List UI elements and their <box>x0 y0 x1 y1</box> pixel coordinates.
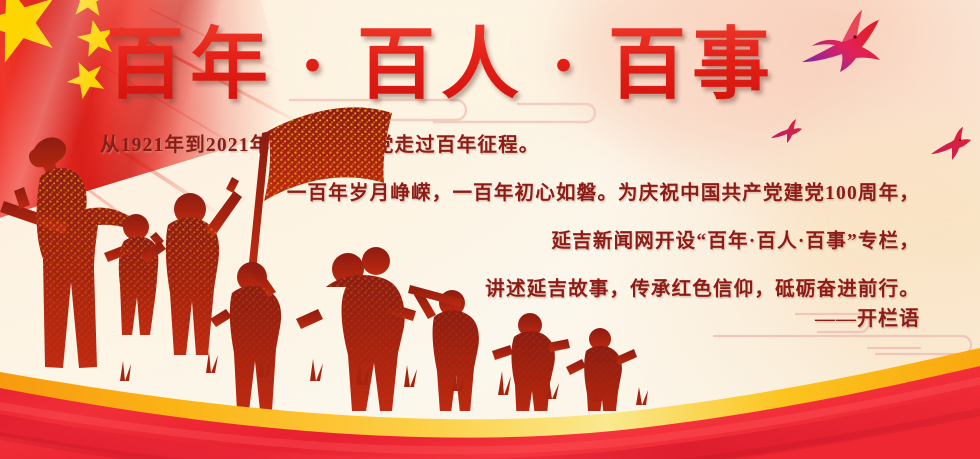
bottom-ribbon-decoration <box>0 344 980 459</box>
silhouette-child <box>104 214 164 335</box>
waving-red-flag <box>248 107 392 273</box>
banner-root: 百年 · 百人 · 百事 从1921年到2021年，中国共产党走过百年征程。 一… <box>0 0 980 459</box>
